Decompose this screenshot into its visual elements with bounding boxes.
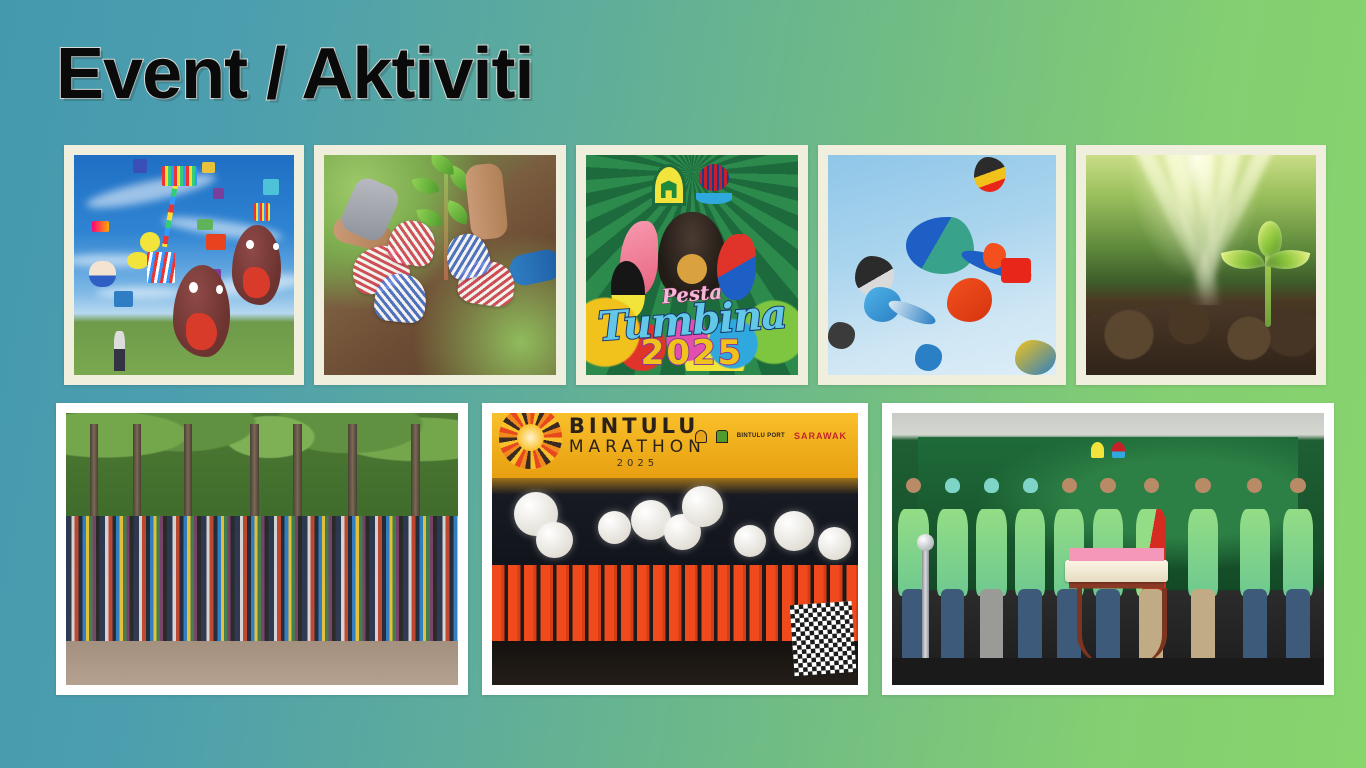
kite-shape [206,234,226,249]
photo-frame-seedling[interactable] [1076,145,1326,385]
photo-frame-pesta-tumbina-poster[interactable]: Pesta Tumbina 2025 [576,145,808,385]
stage-floor [892,658,1324,685]
kite-shape [254,203,269,221]
ceremony-attendee [1013,478,1048,668]
kite-shape [133,159,146,172]
head [984,478,999,493]
marathon-title-year: 2025 [569,459,706,469]
kite-red-flag [1001,258,1031,282]
head [1062,478,1077,493]
kite-shape [1015,340,1056,375]
kite-shape [263,179,278,194]
kite-shape [202,162,215,173]
white-balloon [818,527,851,560]
stanchion-post [922,544,929,675]
sapling-leaf [430,155,455,175]
marathon-title-line2: MARATHON [569,439,706,456]
sprout-leaf [1220,244,1264,276]
photo-frame-park-group-photo[interactable] [56,403,468,695]
photo-colourful-kites-in-sky [828,155,1056,375]
cloud-shape [96,287,184,298]
head [945,478,960,493]
poster-title-block: Pesta Tumbina 2025 [586,286,798,369]
kite-seahorse [906,217,974,274]
kite-shape [162,166,197,186]
gallery-row-bottom: BINTULU MARATHON 2025 BINTULU PORT SARAW… [56,403,1344,695]
person-silhouette [114,331,125,371]
kite-shape [127,252,149,270]
photo-frame-cake-cutting-ceremony[interactable] [882,403,1334,695]
green-polo-shirt [1283,509,1313,597]
backdrop-crest-icon [1091,442,1104,458]
ceremony-attendee [1186,478,1221,668]
kite-smiley [140,232,160,252]
ceremony-attendee [935,478,970,668]
ceremony-attendee [1238,478,1273,668]
head [1100,478,1115,493]
backdrop-council-icon [1112,442,1125,458]
ceremony-attendee [1281,478,1316,668]
photo-frame-bintulu-marathon[interactable]: BINTULU MARATHON 2025 BINTULU PORT SARAW… [482,403,868,695]
marathon-title-line1: BINTULU [569,416,706,437]
green-polo-shirt [1015,509,1045,597]
photo-tree-planting-gloved-hands [324,155,556,375]
kite-teddy [89,261,115,287]
sponsor-label-bintulu-port: BINTULU PORT [737,433,785,439]
ceremonial-cake [1065,560,1169,582]
sunburst-logo-icon [499,413,561,469]
white-balloon [682,486,722,526]
green-polo-shirt [937,509,967,597]
kite-squirrel [232,225,280,304]
kite-shape [114,291,134,306]
head [1290,478,1305,493]
kite-bird [974,157,1006,192]
wooden-table [1069,574,1164,666]
photo-bintulu-marathon-2025: BINTULU MARATHON 2025 BINTULU PORT SARAW… [492,413,858,685]
photo-kite-festival-squirrel-kites [74,155,294,375]
tree-canopy [66,413,458,533]
green-polo-shirt [1188,509,1218,597]
ceremony-attendee [974,478,1009,668]
green-polo-shirt [976,509,1006,597]
head [1195,478,1210,493]
head [1144,478,1159,493]
backdrop-logo-group [1091,442,1125,458]
kite-shape [828,322,855,348]
marathon-banner: BINTULU MARATHON 2025 BINTULU PORT SARAW… [492,413,858,478]
photo-frame-colourful-kites[interactable] [818,145,1066,385]
paved-ground [66,641,458,685]
photo-pesta-tumbina-2025-poster: Pesta Tumbina 2025 [586,155,798,375]
sarawak-crest-logo-icon [652,164,686,206]
photo-frame-tree-planting[interactable] [314,145,566,385]
green-polo-shirt [1240,509,1270,597]
photo-cake-cutting-ceremony [892,413,1324,685]
seedling-sprout [1238,221,1307,327]
crowd-of-participants [66,516,458,647]
marathon-banner-text: BINTULU MARATHON 2025 [569,416,706,469]
photo-park-group-photo-crowd [66,413,458,685]
head [1247,478,1262,493]
head [906,478,921,493]
kite-shape [197,219,212,230]
sapling-leaf [412,173,440,199]
kite-shape [147,252,176,283]
council-globe-logo-icon [696,164,732,208]
white-balloon [598,511,631,544]
photo-frame-kite-festival[interactable] [64,145,304,385]
kite-squirrel [173,265,230,357]
page-title: Event / Aktiviti [56,38,533,110]
sponsor-logo-group: BINTULU PORT SARAWAK [695,430,847,443]
sleeve [507,247,556,288]
poster-logo-group [639,164,745,208]
sponsor-crest-icon [695,430,707,443]
sponsor-label-sarawak: SARAWAK [794,431,847,441]
kite-shape [213,188,224,199]
cloud-shape [84,168,217,215]
kite-shape [915,344,942,370]
poster-title-line2: Tumbina [586,296,798,346]
white-balloon [536,522,573,559]
white-balloon [734,525,767,558]
checkered-flag [790,601,857,676]
kite-shape [92,221,110,232]
kite-orange-dinosaur [947,278,993,322]
sponsor-council-icon [716,430,728,443]
gallery-row-top: Pesta Tumbina 2025 [64,145,1336,385]
arm [464,162,509,240]
photo-seedling-sprouting-in-soil [1086,155,1316,375]
white-balloon [774,511,814,551]
head [1023,478,1038,493]
